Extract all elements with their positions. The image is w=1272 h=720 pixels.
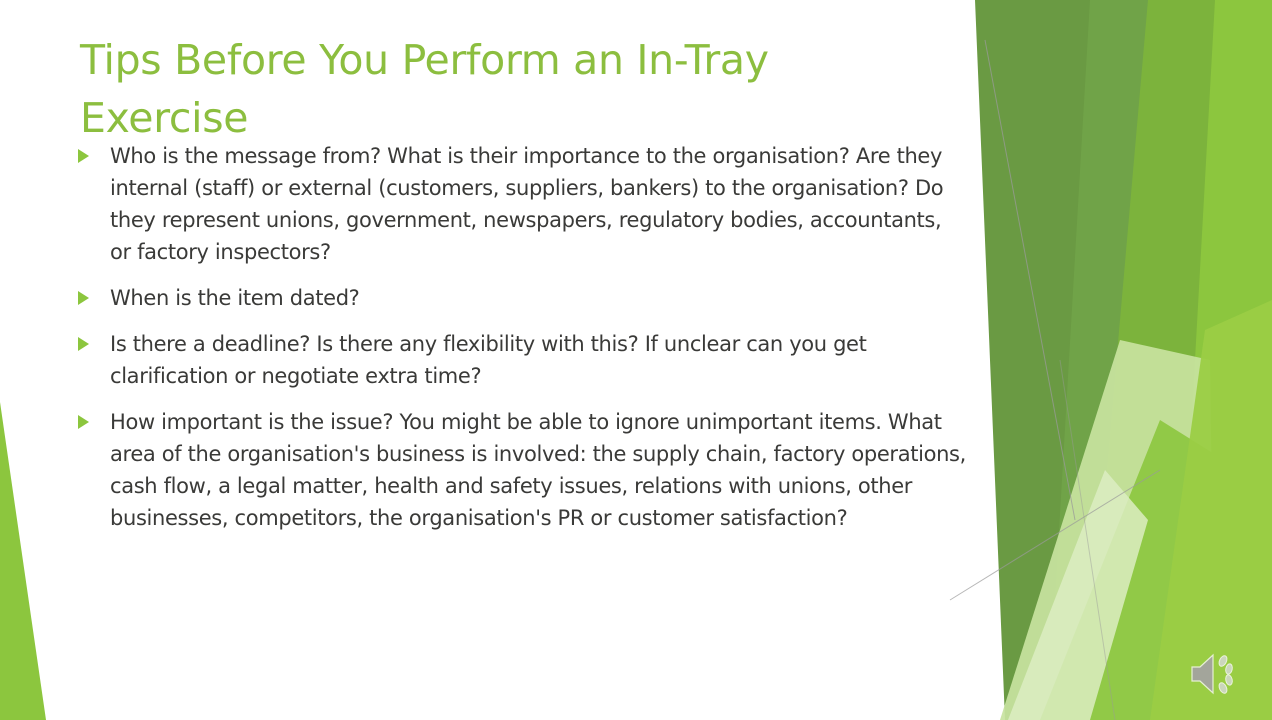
speaker-icon[interactable] bbox=[1188, 648, 1244, 700]
facet-bottom-soft bbox=[1008, 470, 1148, 720]
facet-lower-pale-fan bbox=[1000, 340, 1215, 720]
list-item: When is the item dated? bbox=[78, 282, 968, 314]
facet-olive-mid bbox=[1048, 0, 1272, 720]
triangle-bullet-icon bbox=[78, 140, 100, 163]
triangle-bullet-icon bbox=[78, 406, 100, 429]
facet-green-light-wedge bbox=[1062, 0, 1272, 720]
slide-title: Tips Before You Perform an In-Tray Exerc… bbox=[80, 31, 880, 147]
hairline-upper bbox=[985, 40, 1075, 520]
sound-wave-2 bbox=[1225, 663, 1233, 675]
list-item-text: Who is the message from? What is their i… bbox=[110, 140, 968, 268]
list-item-text: Is there a deadline? Is there any flexib… bbox=[110, 328, 968, 392]
facet-green-bright-column bbox=[1110, 0, 1272, 720]
speaker-body bbox=[1192, 655, 1213, 693]
list-item: Who is the message from? What is their i… bbox=[78, 140, 968, 268]
sound-wave-3 bbox=[1225, 674, 1233, 686]
facet-green-pale bbox=[1040, 0, 1272, 720]
slide-body-list: Who is the message from? What is their i… bbox=[78, 140, 968, 548]
hairline-lower bbox=[950, 470, 1160, 600]
facet-left-wedge bbox=[0, 402, 46, 720]
list-item-text: When is the item dated? bbox=[110, 282, 968, 314]
triangle-bullet-icon bbox=[78, 328, 100, 351]
facet-pale-wash bbox=[1012, 0, 1272, 720]
hairline-diagonal bbox=[1060, 360, 1115, 720]
presentation-slide: Tips Before You Perform an In-Tray Exerc… bbox=[0, 0, 1272, 720]
list-item: How important is the issue? You might be… bbox=[78, 406, 968, 534]
list-item: Is there a deadline? Is there any flexib… bbox=[78, 328, 968, 392]
triangle-bullet-icon bbox=[78, 282, 100, 305]
facet-green-mid-spear bbox=[1085, 0, 1215, 720]
list-item-text: How important is the issue? You might be… bbox=[110, 406, 968, 534]
facet-olive-dark bbox=[975, 0, 1272, 720]
